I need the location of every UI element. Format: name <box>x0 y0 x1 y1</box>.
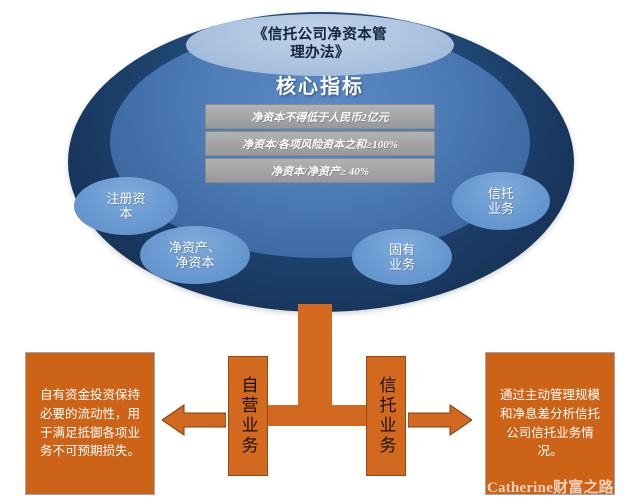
satellite-trust-business: 信托 业务 <box>452 172 550 230</box>
center-box-self-operated-label: 自营业务 <box>240 376 257 456</box>
satellite-registered-capital: 注册资 本 <box>74 177 178 235</box>
satellite-proprietary-business: 固有 业务 <box>352 229 452 285</box>
satellite-net-assets-net-capital-label: 净资产、 净资本 <box>169 240 221 271</box>
center-box-self-operated: 自营业务 <box>228 356 268 476</box>
indicator-bar-stack: 净资本不得低于人民币2亿元 净资本/各项风险资本之和≥100% 净资本/净资产≥… <box>205 104 435 183</box>
title-ellipse-label: 《信托公司净资本管 理办法》 <box>253 27 387 62</box>
title-ellipse: 《信托公司净资本管 理办法》 <box>186 14 454 76</box>
indicator-bar-1: 净资本不得低于人民币2亿元 <box>205 104 435 129</box>
indicator-bar-2: 净资本/各项风险资本之和≥100% <box>205 131 435 156</box>
center-box-trust-label: 信托业务 <box>378 376 395 456</box>
center-box-trust: 信托业务 <box>366 356 406 476</box>
diagram-canvas: 《信托公司净资本管 理办法》 核心指标 净资本不得低于人民币2亿元 净资本/各项… <box>0 0 640 503</box>
arrow-left-icon <box>162 400 226 440</box>
note-box-right: 通过主动管理规模和净息差分析信托公司信托业务情况。 <box>485 352 615 495</box>
core-indicators-heading: 核心指标 <box>0 70 640 99</box>
watermark: Catherine财富之路 <box>487 476 615 497</box>
indicator-bar-3: 净资本/净资产≥ 40% <box>205 158 435 183</box>
satellite-proprietary-business-label: 固有 业务 <box>389 242 415 273</box>
note-box-right-text: 通过主动管理规模和净息差分析信托公司信托业务情况。 <box>494 386 606 461</box>
satellite-net-assets-net-capital: 净资产、 净资本 <box>140 226 250 284</box>
satellite-registered-capital-label: 注册资 本 <box>106 191 145 222</box>
note-box-left: 自有资金投资保持必要的流动性，用于满足抵御各项业务不可预期损失。 <box>25 352 155 495</box>
satellite-trust-business-label: 信托 业务 <box>488 186 514 217</box>
arrow-right-icon <box>408 400 472 440</box>
note-box-left-text: 自有资金投资保持必要的流动性，用于满足抵御各项业务不可预期损失。 <box>34 386 146 461</box>
